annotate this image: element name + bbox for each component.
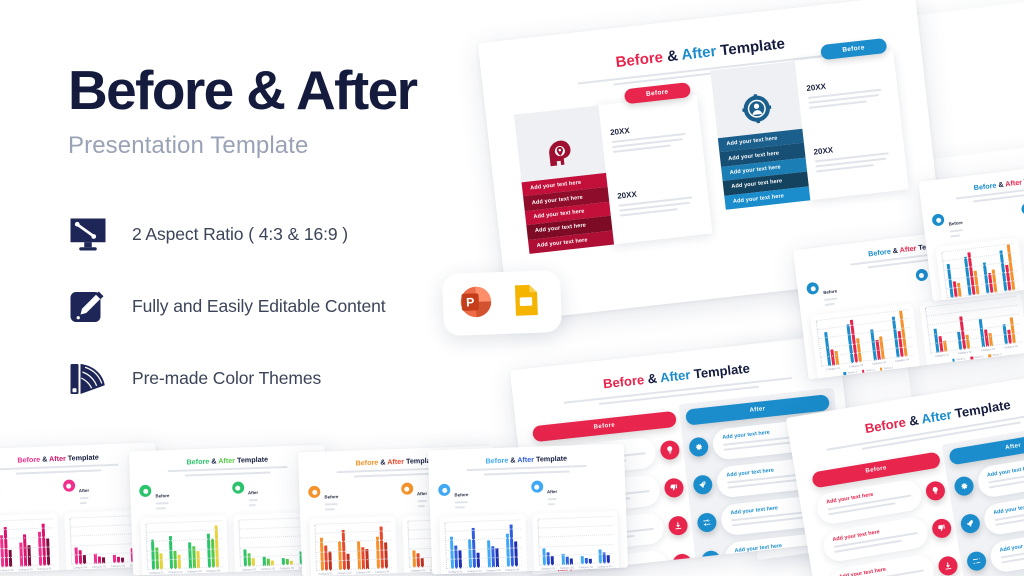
left-info-panel: Before & After Presentation Template 2 A… [68,62,488,423]
chart-x-tick: Category 01 [935,353,949,358]
rocket-icon [959,513,981,535]
slide-title: Before & After Template [138,453,316,468]
chart-bar [46,539,50,566]
chart-bar-group [449,522,462,568]
chart-x-tick: Category 03 [356,571,370,574]
page-subtitle: Presentation Template [68,132,488,160]
sliders-icon [696,512,717,533]
list-item-title: Add your text here [993,496,1024,516]
chart-bar [384,543,388,569]
sliders-icon [966,550,988,572]
google-slides-icon [506,280,545,324]
chart-panel-header: Before [931,205,1016,243]
chart-bar [543,549,547,566]
chart-x-tick: Category 04 [375,570,389,573]
chart-bar-group [243,520,256,566]
chart-x-tick: Category 01 [73,566,87,570]
chart-x-tick: Category 02 [337,572,351,575]
chart-plot [537,517,614,566]
entry: 20XX [610,119,694,156]
title-word-amp: & [647,371,658,387]
title-word-before: Before [973,181,997,193]
legend-entry: Series 1 [253,574,266,576]
chart-panel-before: BeforeCategory 01Category 02Category 03C… [139,482,228,575]
chart-bar [357,542,361,570]
chart-bar-group [74,518,87,564]
rocket-icon [692,474,713,495]
slide-subtitle-lines [168,466,288,477]
status-dot-icon [438,484,450,496]
chart-panel-before: BeforeCategory 01Category 02Category 03C… [308,483,397,576]
title-word-template: Template [237,455,268,465]
column-before-blue: Before [710,50,911,231]
chart-bar [244,550,248,567]
chart-bar-group [150,523,163,569]
list-item-title: Add your text here [1005,571,1024,576]
chart-panel-before: BeforeCategory 01Category 02Category 03C… [806,271,920,380]
chart-bar [159,554,163,570]
feature-label: Fully and Easily Editable Content [132,296,386,317]
chart-x-tick: Category 01 [826,367,840,372]
chart-x-tick: Category 03 [486,569,500,572]
feature-label: Pre-made Color Themes [132,368,321,389]
status-dot-icon [401,482,413,494]
chart-x-tick: Category 02 [467,570,481,573]
legend-entry: Series 1 [84,572,97,574]
chart-panel-title: After [248,490,258,495]
chart-card: Category 01Category 02Category 03Categor… [439,514,527,574]
chart-x-tick: Category 01 [149,571,163,574]
title-word-after: After [49,454,66,464]
column-entries: 20XX 20XX [598,94,712,244]
title-word-amp: & [666,47,679,65]
chart-bar-group [560,518,573,564]
chart-bar [75,547,79,565]
status-dot-icon [62,479,74,491]
title-word-after: After [1005,177,1023,188]
chart-bar [514,542,518,567]
chart-x-axis: Category 01Category 02Category 03Categor… [147,569,223,575]
title-word-before: Before [485,456,508,466]
chart-bar-group [542,519,555,565]
chart-panel-header: Before [0,480,57,511]
chart-bar-group [280,519,293,565]
chart-plot [314,522,391,571]
list-item-title: Add your text here [838,561,923,576]
chart-x-tick: Category 04 [37,567,51,571]
chart-plot [444,520,521,569]
entry: 20XX [806,75,890,112]
title-word-amp: & [380,457,386,466]
feature-label: 2 Aspect Ratio ( 4:3 & 16:9 ) [132,224,348,245]
chart-panel-header: After [531,478,617,509]
title-word-before: Before [868,247,892,259]
title-word-before: Before [864,414,907,436]
legend-entry: Series 2 [271,573,284,575]
chart-x-tick: Category 04 [206,569,220,572]
chart-panel-title: Before [454,492,468,497]
chart-bar [214,525,218,567]
chart-x-tick: Category 01 [541,567,555,570]
column-before-red: Before [514,94,712,254]
status-dot-icon [308,486,320,498]
column-entries: 20XX 20XX [794,50,908,200]
title-word-after: After [517,455,534,465]
chart-x-tick: Category 03 [872,361,886,366]
status-dot-icon [531,480,543,492]
edit-pencil-icon [68,288,108,326]
title-word-amp: & [211,456,217,465]
monitor-aspect-ratio-icon [68,216,108,254]
chart-x-tick: Category 03 [18,568,32,572]
legend-entry: Series 3 [988,353,1001,358]
title-word-amp: & [892,246,898,256]
chart-panel-after: AfterCategory 01Category 02Category 03Ca… [531,478,620,574]
chart-bar [324,546,328,571]
entry: 20XX [813,139,897,176]
chart-bar-group [187,522,200,568]
title-word-after: After [899,243,917,254]
chart-bar-group [19,520,32,566]
chart-x-tick: Category 03 [579,566,593,569]
column-icon-and-bars: Add your text here Add your text here Ad… [514,105,614,253]
chart-panel-header: Before [139,482,225,513]
chart-x-tick: Category 03 [981,348,995,353]
feature-list: 2 Aspect Ratio ( 4:3 & 16:9 ) Fully and … [68,207,488,407]
chart-card: Category 01Category 02Category 03Categor… [935,237,1024,301]
list-item-title: Add your text here [999,534,1024,554]
download-icon [668,515,689,536]
powerpoint-icon: P [456,282,495,326]
chart-card: Category 01Category 02Category 03Categor… [309,516,397,576]
pin-icon [672,553,693,574]
chart-panels: BeforeCategory 01Category 02Category 03C… [139,479,320,575]
chart-bar [487,541,491,568]
slide-subtitle-lines [467,465,587,476]
chart-bar-group [356,523,369,569]
chart-panels: BeforeCategory 01Category 02Category 03C… [0,477,152,574]
chart-panels: BeforeCategory 01Category 02Category 03C… [438,478,619,574]
title-word-before: Before [355,458,378,468]
chart-panel-before: BeforeCategory 01Category 02Category 03C… [0,480,59,574]
status-dot-icon [931,213,944,226]
status-dot-icon [915,268,928,281]
chart-x-tick: Category 04 [895,358,909,363]
chart-bar [450,536,454,568]
title-word-after: After [218,456,235,466]
head-location-pin-icon [544,136,577,169]
chart-bar [151,539,155,569]
chart-x-axis: Category 01Category 02Category 03Categor… [0,567,54,573]
chart-bar-group [579,518,592,564]
chart-x-tick: Category 01 [448,570,462,573]
chart-panel-before: BeforeCategory 01Category 02Category 03C… [438,481,527,574]
status-badge: After [948,428,1024,465]
thumbs-down-icon [664,477,685,498]
slide-title: Before & After Template [437,452,615,467]
title-word-amp: & [42,454,48,463]
chart-x-tick: Category 02 [560,566,574,569]
gear-icon [688,437,709,458]
chart-panel-header: Before [438,481,524,512]
chart-bar-group [319,524,332,570]
legend-entry: Series 2 [970,355,983,360]
slide-subtitle-lines [0,464,119,476]
chart-x-tick: Category 02 [168,571,182,574]
title-word-before: Before [186,457,209,467]
title-word-after: After [681,43,718,64]
page-title: Before & After [68,62,488,120]
chart-x-tick: Category 01 [411,569,425,572]
chart-x-tick: Category 03 [187,570,201,573]
chart-card: Category 01Category 02Category 03Categor… [140,515,228,575]
legend-entry: Series 3 [120,570,133,573]
thumbs-down-icon [931,517,953,539]
chart-x-tick: Category 02 [261,567,275,570]
chart-bar-group [468,522,481,568]
chart-bar-group [92,517,105,563]
svg-text:P: P [466,295,475,309]
chart-bar [23,534,27,566]
status-dot-icon [1020,202,1024,215]
chart-bar-group [412,521,425,567]
column-icon-and-bars: Add your text here Add your text here Ad… [710,61,810,209]
title-word-template: Template [68,452,99,462]
chart-x-tick: Category 02 [849,364,863,369]
status-dot-icon [139,485,151,497]
title-word-template: Template [536,454,567,464]
chart-x-tick: Category 02 [958,350,972,355]
legend-entry: Series 3 [289,572,302,575]
chart-panel-title: After [417,491,427,496]
chart-bar-group [505,520,518,566]
chart-bar-group [169,523,182,569]
chart-bar [196,552,200,569]
lightbulb-icon [925,480,947,502]
chart-bar-group [338,524,351,570]
chart-x-tick: Category 01 [318,572,332,575]
chart-x-tick: Category 03 [280,567,294,570]
chart-bar [509,524,513,566]
status-dot-icon [806,282,819,295]
chart-x-tick: Category 02 [92,565,106,569]
chart-bar-group [261,519,274,565]
chart-bar-group [206,521,219,567]
title-word-amp: & [510,455,516,464]
feature-item-color-themes: Pre-made Color Themes [68,351,488,407]
slide-card-chart-multi-partial[interactable]: Before & After TemplateBeforeCategory 01… [918,159,1024,301]
chart-panel-title: Before [324,494,338,499]
chart-bar [477,553,481,568]
chart-bar [9,550,13,567]
chart-x-tick: Category 04 [505,568,519,571]
title-word-after: After [387,457,404,467]
chart-panel-title: After [79,488,89,493]
chart-panel-before: BeforeCategory 01Category 02Category 03C… [931,205,1024,302]
chart-panels: BeforeCategory 01Category 02Category 03C… [931,194,1024,301]
text-bar-list: Add your text here Add your text here Ad… [718,129,810,210]
list-column-before: Before Add your text here Add your text … [811,451,967,576]
chart-x-tick: Category 03 [111,565,125,569]
title-word-before: Before [17,455,40,465]
status-dot-icon [232,481,244,493]
chart-bar-group [0,521,13,567]
title-word-before: Before [602,372,645,391]
download-icon [937,555,959,576]
entry: 20XX [617,183,701,220]
chart-bar-group [598,517,611,563]
gear-icon [953,475,975,497]
chart-x-axis: Category 01Category 02Category 03Categor… [316,570,392,576]
feature-item-editable-content: Fully and Easily Editable Content [68,279,488,335]
app-format-icons: P [442,270,562,336]
chart-card: Category 01Category 02Category 03Categor… [0,513,59,574]
chart-plot [145,521,222,570]
poster-canvas: Before & After Presentation Template 2 A… [0,0,1024,576]
legend-entry: Series 2 [570,572,583,574]
chart-plot [0,519,54,568]
chart-x-tick: Category 02 [0,569,14,573]
chart-panel-title: After [547,489,557,494]
title-word-after: After [659,367,691,385]
chart-panel-title: Before [823,288,837,295]
chart-x-tick: Category 01 [242,568,256,571]
legend-entry: Series 1 [552,573,565,575]
lightbulb-icon [659,440,680,461]
legend-entry: Series 2 [102,571,115,574]
chart-panel-header: After [1020,194,1024,232]
legend-entry: Series 3 [588,571,601,574]
chart-bar [41,523,46,565]
chart-bar-group [111,517,124,563]
chart-panel-title: Before [155,493,169,498]
chart-bar [211,539,215,568]
chart-bar [379,526,383,568]
title-word-after: After [920,407,952,427]
legend-entry: Series 1 [952,357,965,362]
main-columns: Before [508,71,917,254]
chart-panel-title: Before [948,220,962,227]
user-circle-target-icon [741,92,774,125]
slide-card-chart-blue[interactable]: Before & After TemplateBeforeCategory 01… [428,444,628,575]
chart-x-axis: Category 01Category 02Category 03Categor… [446,568,522,574]
chart-plot [941,244,1019,298]
users-icon [701,550,722,571]
text-bar-list: Add your text here Add your text here Ad… [522,173,614,254]
title-word-template: Template [954,397,1012,421]
color-fan-palette-icon [68,360,108,398]
chart-bar-group [375,522,388,568]
chart-bar-group [486,521,499,567]
title-word-amp: & [998,180,1004,190]
chart-bar [347,554,351,570]
chart-x-tick: Category 04 [1004,345,1018,350]
chart-x-tick: Category 04 [598,565,612,568]
feature-item-aspect-ratio: 2 Aspect Ratio ( 4:3 & 16:9 ) [68,207,488,263]
chart-panel-header: Before [308,483,394,514]
title-word-template: Template [693,361,750,382]
slide-title: Before & After Template [0,451,147,467]
title-word-before: Before [615,49,664,71]
chart-card: Category 01Category 02Category 03Categor… [532,511,620,574]
chart-bar [413,550,417,568]
title-word-amp: & [908,412,920,428]
chart-bar-group [37,519,50,565]
chart-card: Category 01Category 02Category 03Categor… [919,290,1024,369]
title-word-template: Template [719,35,785,59]
